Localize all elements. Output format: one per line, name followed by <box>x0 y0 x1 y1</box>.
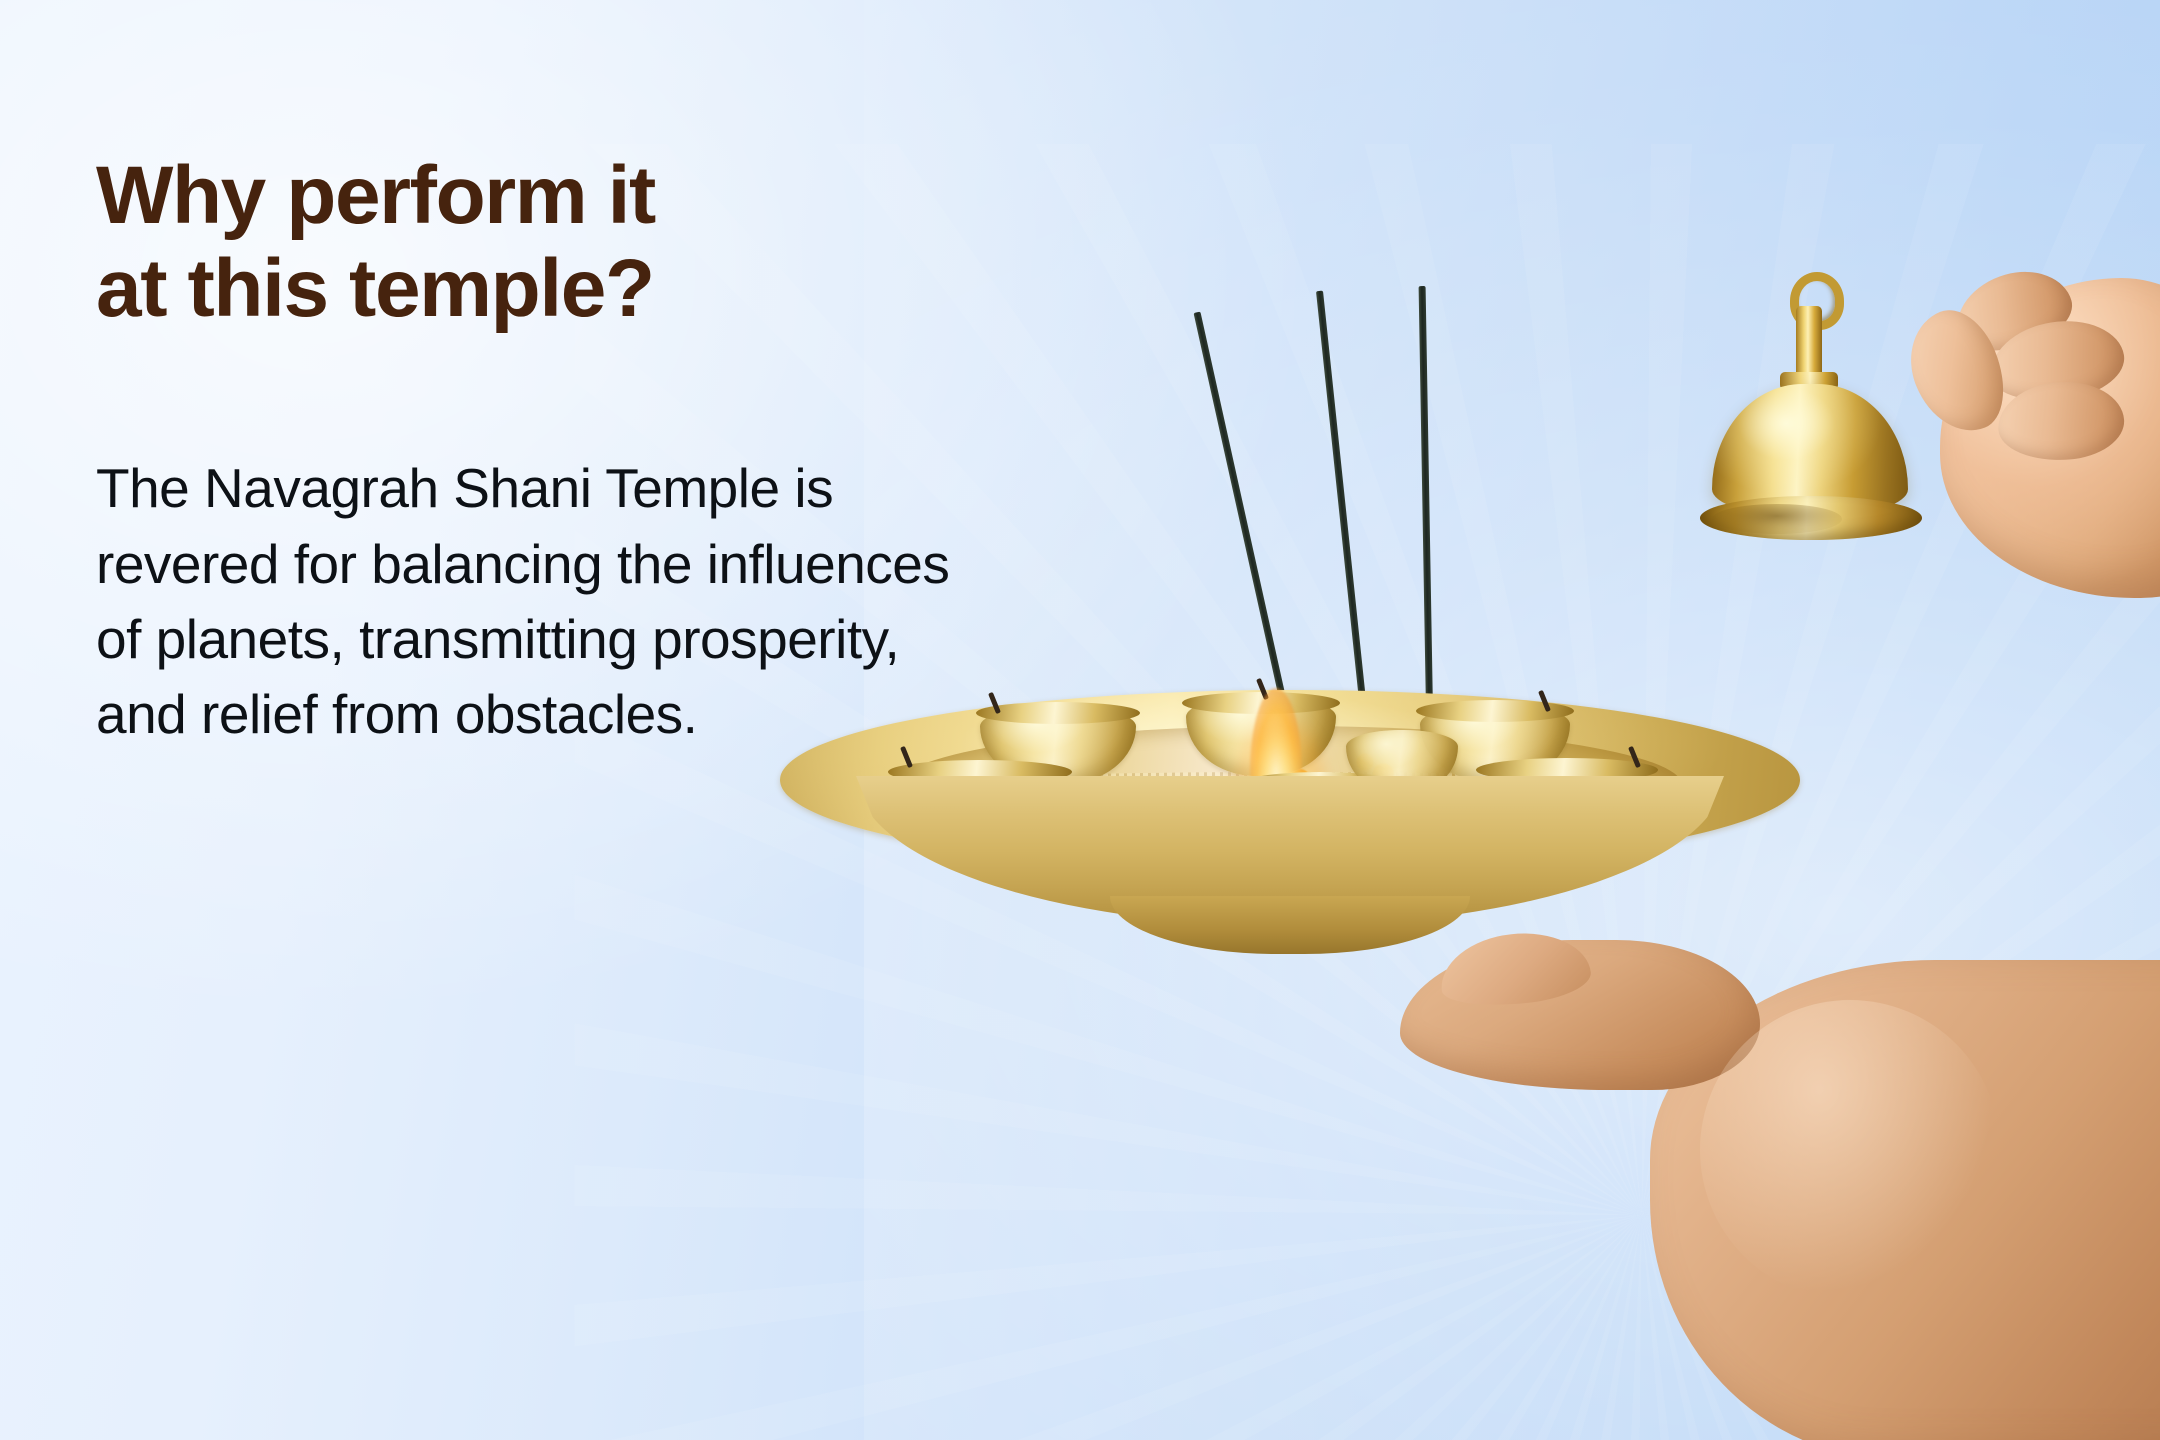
lower-hand <box>1400 940 2160 1440</box>
slide-canvas: Why perform it at this temple? The Navag… <box>0 0 2160 1440</box>
upper-hand <box>1870 264 2160 684</box>
diya-bowl-lip <box>1416 700 1574 722</box>
bell-handle-stem <box>1796 306 1822 378</box>
bell-and-hand-group <box>1660 268 2160 598</box>
diya-bowl-lip <box>976 702 1140 724</box>
forearm-highlight <box>1700 1000 2000 1300</box>
page-title: Why perform it at this temple? <box>96 150 1016 335</box>
text-column: Why perform it at this temple? The Navag… <box>96 150 1016 753</box>
bell-rim-shadow <box>1712 504 1842 534</box>
puja-photo <box>1020 0 2160 1440</box>
